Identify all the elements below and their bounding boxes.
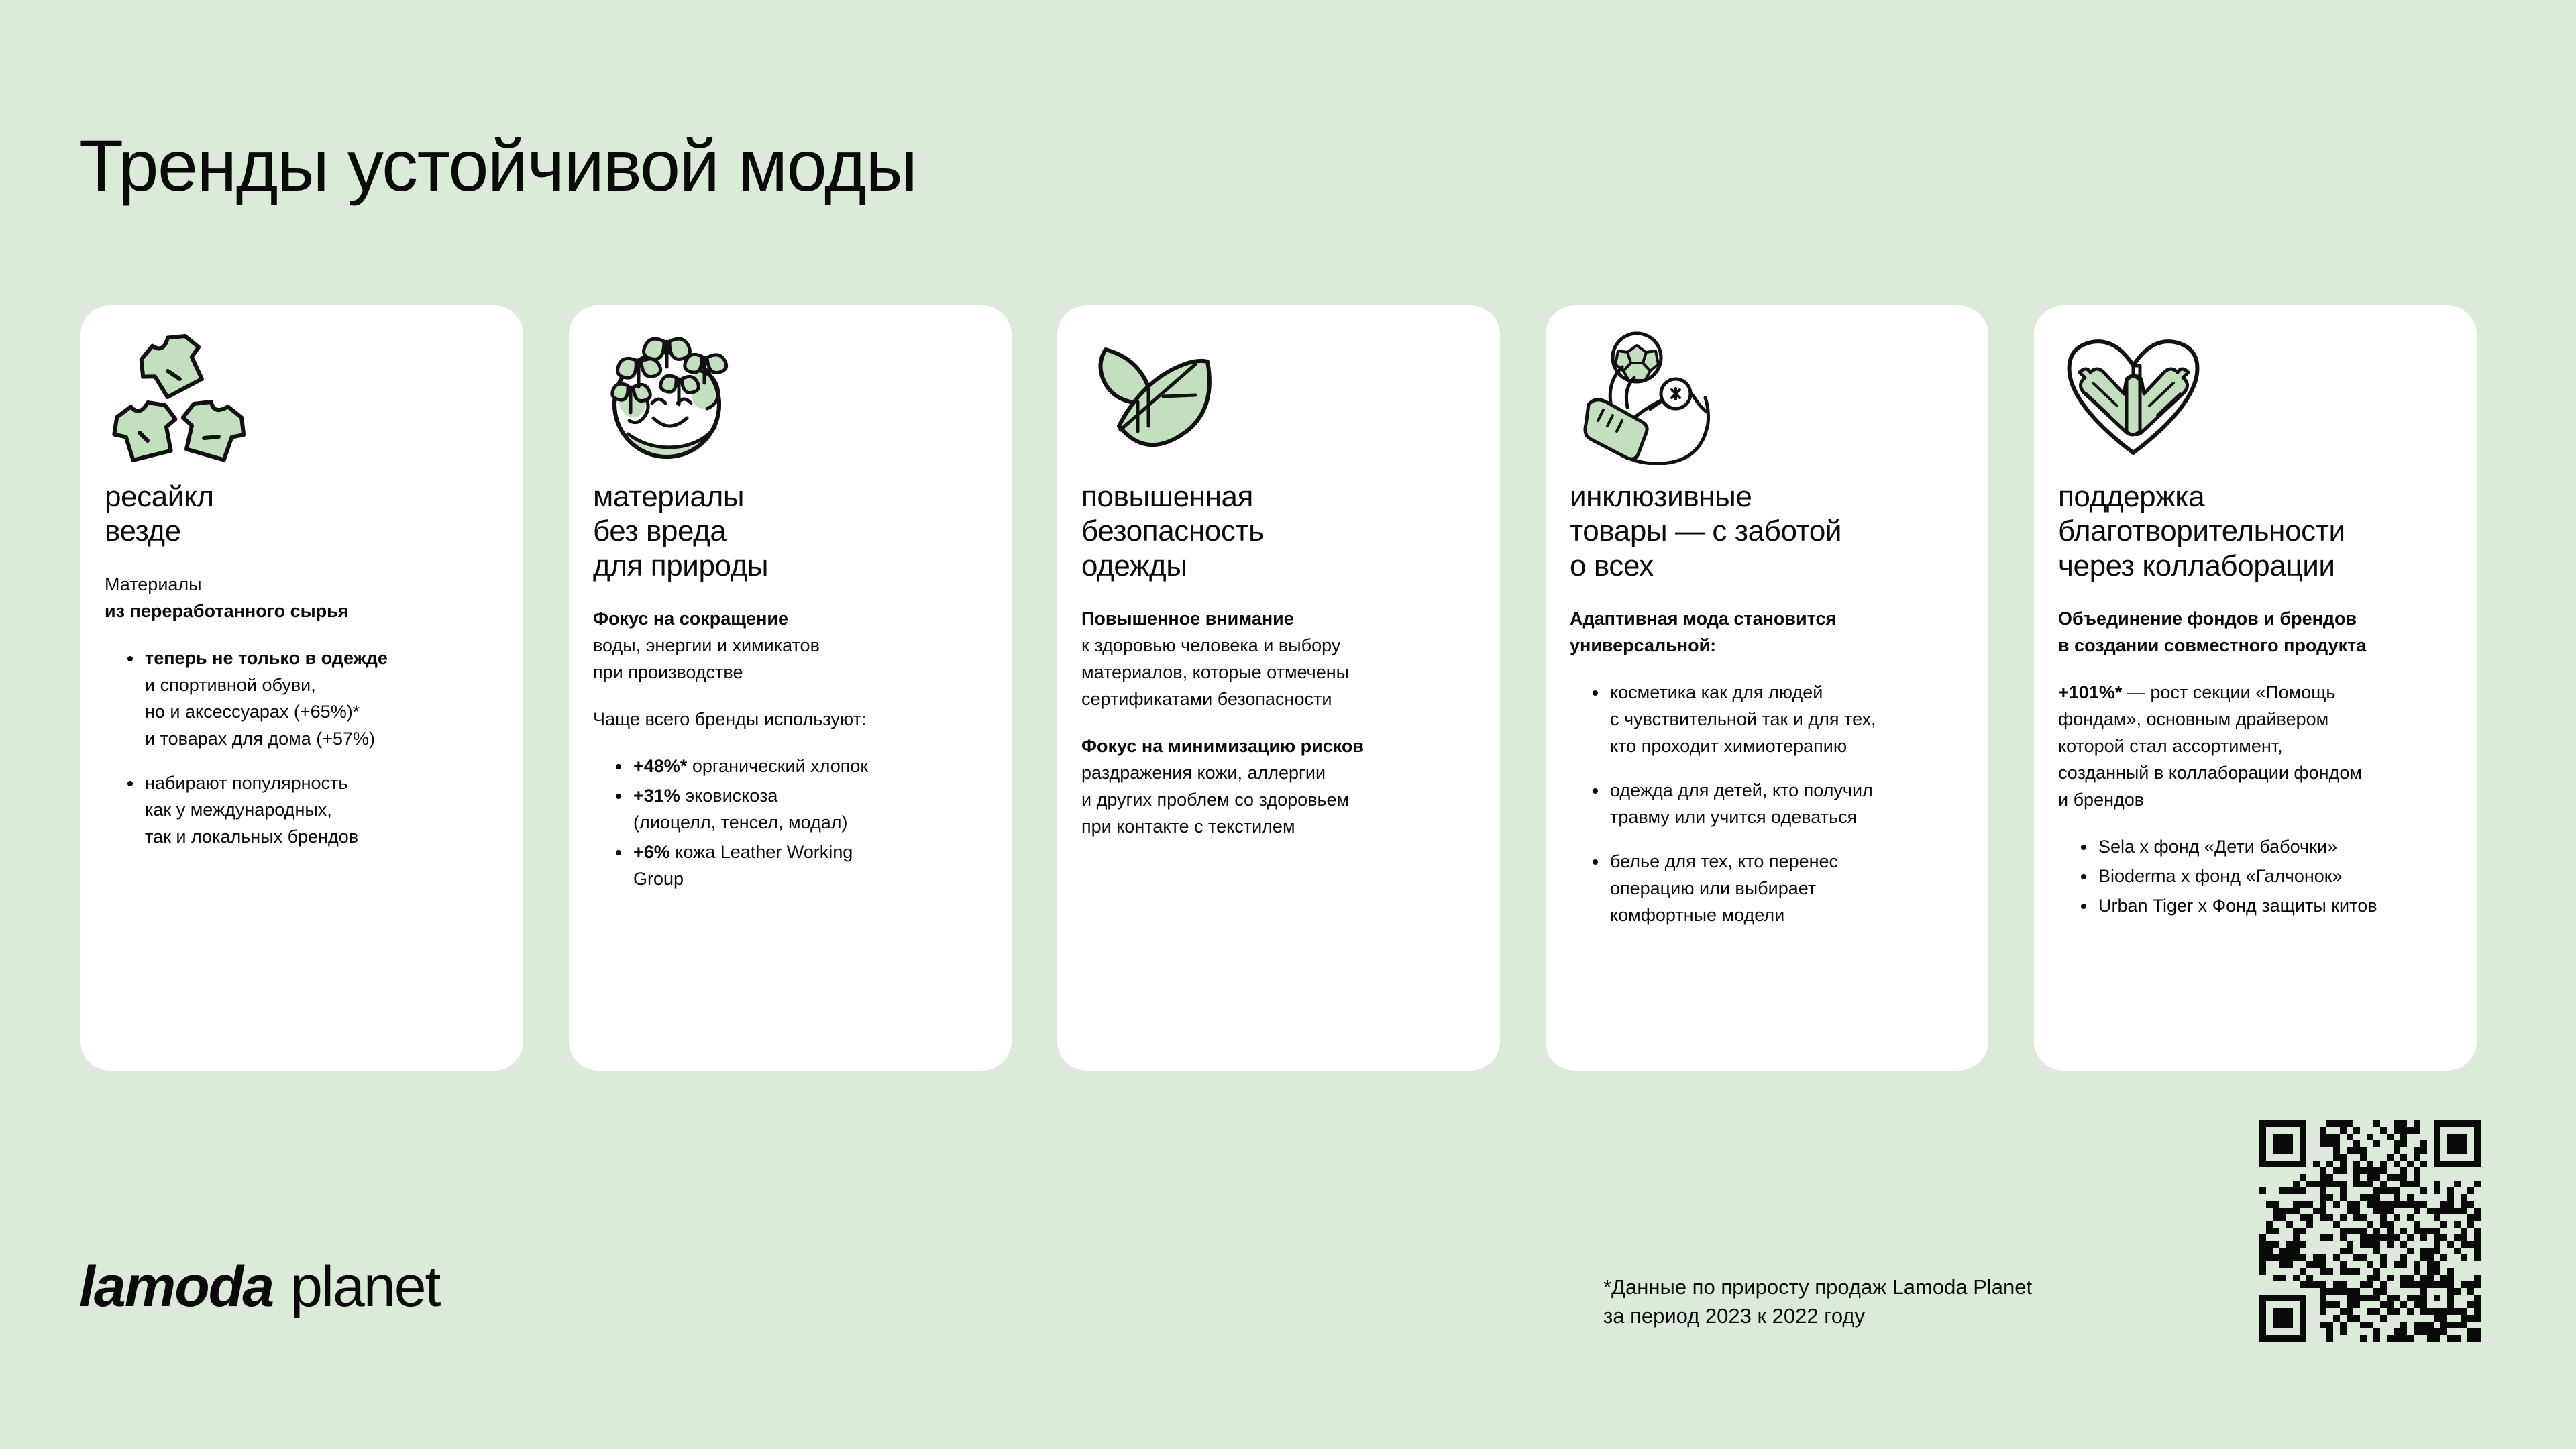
body-block: Адаптивная мода становится универсальной… (1570, 606, 1964, 659)
body-rest: воды, энергии и химикатов при производст… (593, 633, 987, 686)
body-lead: из переработанного сырья (105, 598, 499, 625)
bullet-bold: теперь не только в одежде (145, 648, 388, 668)
card-body: Фокус на сокращение воды, энергии и хими… (593, 606, 987, 893)
card-inclusive: инклюзивные товары — с заботой о всех Ад… (1546, 305, 1988, 1071)
card-body: Материалы из переработанного сырья тепер… (105, 572, 499, 851)
bullet-text: органический хлопок (687, 756, 868, 776)
bullet-list: +48%* органический хлопок +31% эковискоз… (593, 753, 987, 893)
prosthetic-leg-ball-icon (1571, 331, 1725, 465)
bullet-list: косметика как для людей с чувствительной… (1570, 680, 1964, 929)
bullet-bold: +31% (633, 786, 680, 806)
card-body: Адаптивная мода становится универсальной… (1570, 606, 1964, 929)
recycled-tshirts-icon (106, 331, 260, 465)
bullet-text: белье для тех, кто перенес операцию или … (1610, 851, 1838, 925)
infographic-page: Тренды устойчивой моды ре (0, 0, 2576, 1449)
card-title: ресайкл везде (105, 480, 499, 549)
body-block: +101%* — рост секции «Помощь фондам», ос… (2058, 680, 2453, 814)
bullet-text: косметика как для людей с чувствительной… (1610, 682, 1876, 756)
body-block: Фокус на минимизацию рисков раздражения … (1081, 733, 1476, 841)
list-item: одежда для детей, кто получил травму или… (1590, 777, 1964, 831)
logo-lamoda: lamoda (79, 1254, 273, 1319)
card-body: Объединение фондов и брендов в создании … (2058, 606, 2453, 920)
bullet-bold: +6% (633, 842, 670, 862)
body-lead: Фокус на сокращение (593, 606, 987, 633)
list-item: +31% эковискоза (лиоцелл, тенсел, модал) (613, 783, 987, 837)
body-plain: Материалы (105, 572, 499, 598)
body-bold: +101%* (2058, 682, 2122, 702)
card-safety: повышенная безопасность одежды Повышенно… (1057, 305, 1500, 1071)
card-title: повышенная безопасность одежды (1081, 480, 1476, 583)
body-block: Фокус на сокращение воды, энергии и хими… (593, 606, 987, 686)
body-lead: Адаптивная мода становится универсальной… (1570, 606, 1964, 659)
lamoda-planet-logo: lamodaplanet (79, 1258, 439, 1316)
body-rest: +101%* — рост секции «Помощь фондам», ос… (2058, 680, 2453, 814)
list-item: Bioderma x фонд «Галчонок» (2078, 863, 2453, 890)
body-block: Чаще всего бренды используют: (593, 706, 987, 733)
card-recycling: ресайкл везде Материалы из переработанно… (80, 305, 523, 1071)
bullet-text: Urban Tiger x Фонд защиты китов (2098, 896, 2377, 916)
bullet-text: Bioderma x фонд «Галчонок» (2098, 866, 2343, 886)
list-item: +48%* органический хлопок (613, 753, 987, 780)
bullet-list: теперь не только в одежде и спортивной о… (105, 645, 499, 851)
card-title: инклюзивные товары — с заботой о всех (1570, 480, 1964, 583)
body-rest: к здоровью человека и выбору материалов,… (1081, 633, 1476, 713)
body-lead: Объединение фондов и брендов в создании … (2058, 606, 2453, 659)
list-item: +6% кожа Leather Working Group (613, 839, 987, 893)
card-charity: поддержка благотворительности через колл… (2034, 305, 2477, 1071)
bullet-text: одежда для детей, кто получил травму или… (1610, 780, 1873, 827)
body-lead: Повышенное внимание (1081, 606, 1476, 633)
hands-in-heart-icon (2059, 331, 2214, 465)
bullet-list: Sela x фонд «Дети бабочки» Bioderma x фо… (2058, 834, 2453, 920)
body-plain: Чаще всего бренды используют: (593, 706, 987, 733)
body-block: Повышенное внимание к здоровью человека … (1081, 606, 1476, 713)
body-lead: Фокус на минимизацию рисков (1081, 733, 1476, 760)
list-item: Urban Tiger x Фонд защиты китов (2078, 893, 2453, 920)
logo-planet: planet (290, 1254, 439, 1319)
body-block: Материалы из переработанного сырья (105, 572, 499, 625)
list-item: теперь не только в одежде и спортивной о… (125, 645, 499, 753)
card-body: Повышенное внимание к здоровью человека … (1081, 606, 1476, 841)
bullet-bold: +48%* (633, 756, 687, 776)
smiling-earth-icon (594, 331, 749, 465)
card-title: поддержка благотворительности через колл… (2058, 480, 2453, 583)
list-item: набирают популярность как у международны… (125, 770, 499, 851)
card-title: материалы без вреда для природы (593, 480, 987, 583)
bullet-text: Sela x фонд «Дети бабочки» (2098, 837, 2337, 857)
two-leaves-icon (1083, 331, 1237, 465)
list-item: Sela x фонд «Дети бабочки» (2078, 834, 2453, 861)
cards-row: ресайкл везде Материалы из переработанно… (80, 305, 2495, 1071)
list-item: белье для тех, кто перенес операцию или … (1590, 849, 1964, 929)
body-rest: раздражения кожи, аллергии и других проб… (1081, 760, 1476, 841)
bullet-text: и спортивной обуви, но и аксессуарах (+6… (145, 675, 375, 749)
disclaimer-text: *Данные по приросту продаж Lamoda Planet… (1603, 1273, 2234, 1331)
list-item: косметика как для людей с чувствительной… (1590, 680, 1964, 760)
card-materials: материалы без вреда для природы Фокус на… (569, 305, 1012, 1071)
body-block: Объединение фондов и брендов в создании … (2058, 606, 2453, 659)
bullet-text: набирают популярность как у международны… (145, 773, 358, 847)
page-title: Тренды устойчивой моды (79, 127, 917, 203)
qr-code[interactable] (2259, 1120, 2481, 1342)
